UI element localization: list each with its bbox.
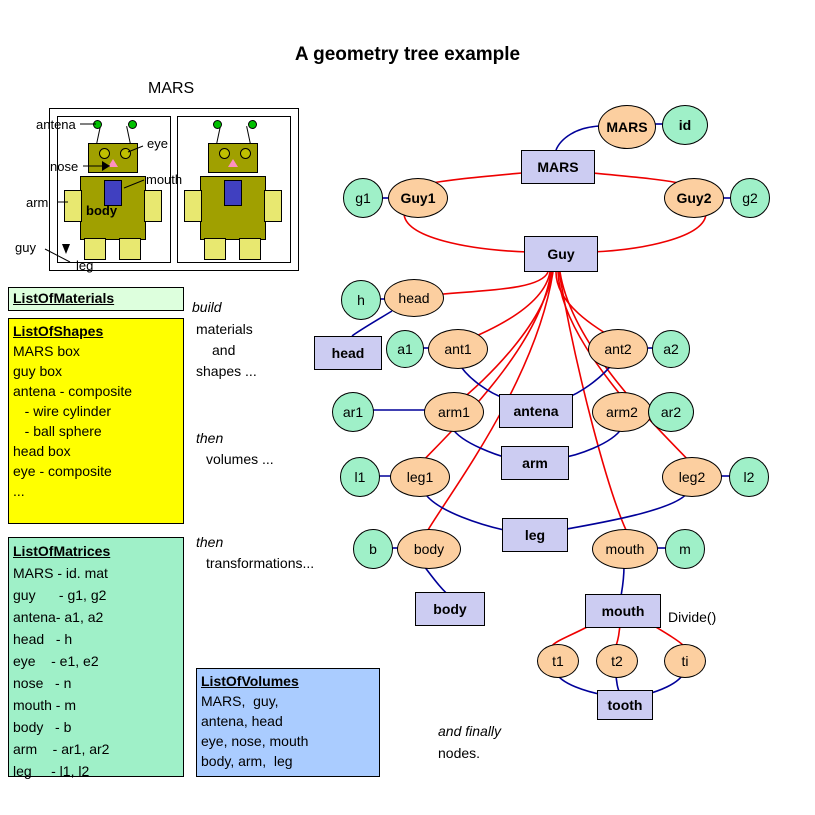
node-g1[interactable]: g1 [343,178,383,218]
node-a2[interactable]: a2 [652,330,690,368]
node-label: leg [525,527,545,543]
node-label: mouth [602,603,645,619]
node-body-ellipse[interactable]: body [397,529,461,569]
node-label: Guy2 [676,190,711,206]
node-label: l1 [355,469,366,485]
node-head-ellipse[interactable]: head [384,279,444,317]
node-label: h [357,292,365,308]
node-mouth-ellipse[interactable]: mouth [592,529,658,569]
node-label: b [369,541,377,557]
node-label: leg2 [679,469,705,485]
node-label: ar1 [343,404,363,420]
node-ti[interactable]: ti [664,644,706,678]
node-id-ellipse[interactable]: id [662,105,708,145]
node-guy-rect[interactable]: Guy [524,236,598,272]
node-label: body [433,601,466,617]
node-t2[interactable]: t2 [596,644,638,678]
node-ant2[interactable]: ant2 [588,329,648,369]
node-mouth-rect[interactable]: mouth [585,594,661,628]
node-leg-rect[interactable]: leg [502,518,568,552]
node-guy1[interactable]: Guy1 [388,178,448,218]
node-l2[interactable]: l2 [729,457,769,497]
node-leg1[interactable]: leg1 [390,457,450,497]
node-g2[interactable]: g2 [730,178,770,218]
node-a1[interactable]: a1 [386,330,424,368]
node-label: id [679,117,691,133]
node-ant1[interactable]: ant1 [428,329,488,369]
node-label: a1 [397,341,413,357]
node-m[interactable]: m [665,529,705,569]
node-leg2[interactable]: leg2 [662,457,722,497]
node-ar2[interactable]: ar2 [648,392,694,432]
node-label: mouth [606,541,645,557]
node-label: tooth [608,697,643,713]
node-label: l2 [744,469,755,485]
node-label: arm [522,455,548,471]
node-label: g2 [742,190,758,206]
node-b[interactable]: b [353,529,393,569]
node-l1[interactable]: l1 [340,457,380,497]
node-h[interactable]: h [341,280,381,320]
node-arm1[interactable]: arm1 [424,392,484,432]
node-label: Guy1 [400,190,435,206]
node-label: ant2 [604,341,631,357]
node-label: ant1 [444,341,471,357]
node-label: body [414,541,444,557]
node-mars-rect[interactable]: MARS [521,150,595,184]
node-label: m [679,541,691,557]
node-label: head [332,345,365,361]
node-body-rect[interactable]: body [415,592,485,626]
node-label: leg1 [407,469,433,485]
node-label: ar2 [661,404,681,420]
node-t1[interactable]: t1 [537,644,579,678]
node-label: arm2 [606,404,638,420]
node-label: head [398,290,429,306]
node-tooth-rect[interactable]: tooth [597,690,653,720]
node-label: arm1 [438,404,470,420]
node-label: MARS [537,159,578,175]
node-label: ti [682,653,689,669]
node-arm2[interactable]: arm2 [592,392,652,432]
node-label: t2 [611,653,623,669]
node-label: MARS [606,119,647,135]
node-mars-ellipse[interactable]: MARS [598,105,656,149]
node-label: antena [513,403,558,419]
node-ar1[interactable]: ar1 [332,392,374,432]
node-head-rect[interactable]: head [314,336,382,370]
node-antena-rect[interactable]: antena [499,394,573,428]
node-label: Guy [547,246,574,262]
node-guy2[interactable]: Guy2 [664,178,724,218]
node-arm-rect[interactable]: arm [501,446,569,480]
node-label: t1 [552,653,564,669]
node-label: a2 [663,341,679,357]
node-label: g1 [355,190,371,206]
